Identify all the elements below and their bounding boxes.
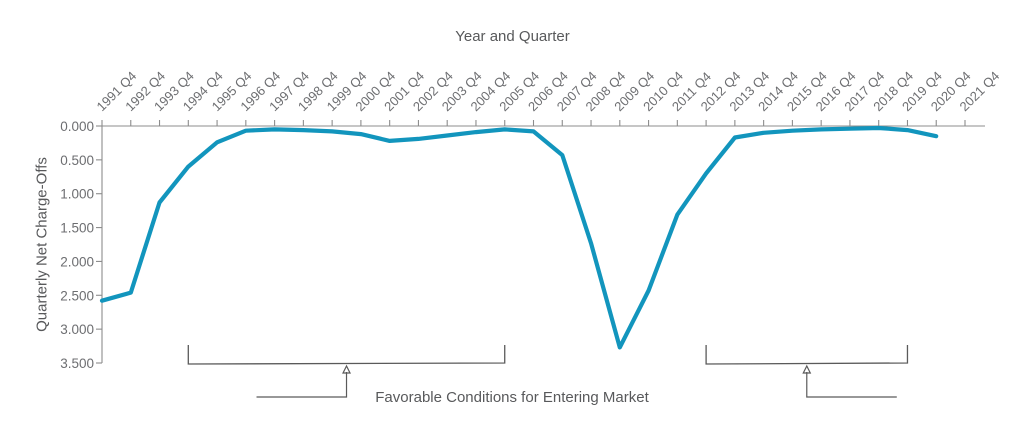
y-axis-title: Quarterly Net Charge-Offs: [34, 95, 51, 395]
line-chart-plot: 0.0000.5001.0001.5002.0002.5003.0003.500…: [0, 0, 1025, 448]
annotation-label: Favorable Conditions for Entering Market: [375, 389, 649, 406]
x-axis-title: Year and Quarter: [0, 28, 1025, 45]
annotation-leader-right: [807, 372, 897, 397]
y-axis-tick-labels: 0.0000.5001.0001.5002.0002.5003.0003.500: [60, 119, 94, 371]
y-tick-label: 2.500: [60, 288, 94, 303]
y-tick-label: 1.500: [60, 221, 94, 236]
annotation-arrow-right: [803, 366, 810, 373]
y-tick-label: 3.500: [60, 356, 94, 371]
y-tick-label: 0.500: [60, 153, 94, 168]
annotation-leader-left: [257, 372, 347, 397]
x-axis-tick-marks: [102, 120, 965, 126]
y-tick-label: 2.000: [60, 254, 94, 269]
series-line-quarterly-net-charge-offs: [102, 128, 936, 347]
annotation-arrow-left: [343, 366, 350, 373]
y-tick-label: 1.000: [60, 187, 94, 202]
chart-container: Year and Quarter Quarterly Net Charge-Of…: [0, 0, 1025, 448]
y-tick-label: 0.000: [60, 119, 94, 134]
y-axis-tick-marks: [96, 126, 102, 363]
x-axis-tick-labels: 1991 Q41992 Q41993 Q41994 Q41995 Q41996 …: [94, 68, 1003, 114]
y-tick-label: 3.000: [60, 322, 94, 337]
annotation-favorable-conditions: Favorable Conditions for Entering Market: [188, 345, 907, 406]
annotation-bracket-right: [706, 345, 907, 364]
annotation-bracket-left: [188, 345, 504, 364]
